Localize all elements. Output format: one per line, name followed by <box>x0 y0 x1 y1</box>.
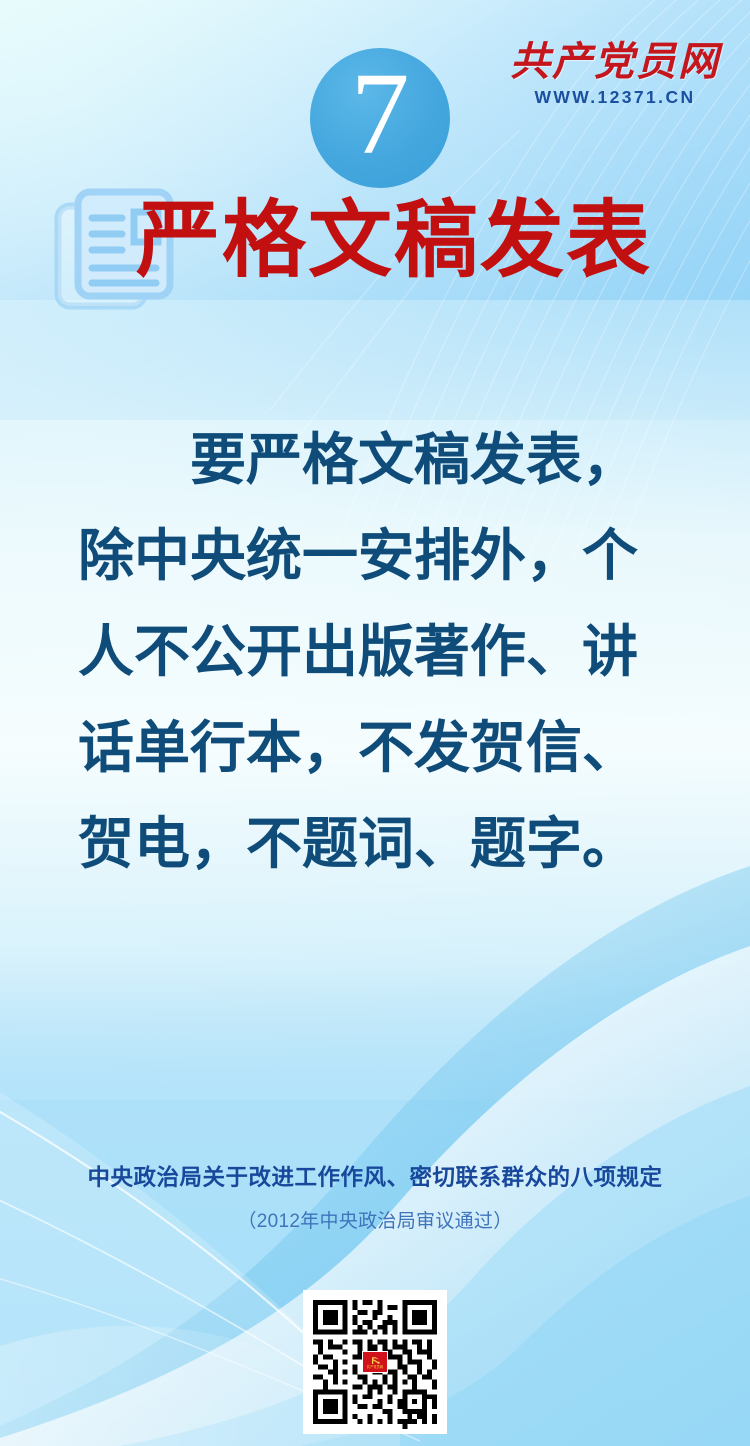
brand-url: WWW.12371.CN <box>504 89 726 107</box>
party-emblem-logo: 共产党员网 <box>362 1351 388 1373</box>
site-brand: 共产党员网 WWW.12371.CN <box>504 42 726 107</box>
brand-wordmark: 共产党员网 <box>504 42 726 82</box>
hammer-sickle-icon <box>369 1355 382 1366</box>
qr-code[interactable]: 共产党员网 <box>303 1290 447 1434</box>
body-paragraph: 要严格文稿发表，除中央统一安排外，个人不公开出版著作、讲话单行本，不发贺信、贺电… <box>78 412 678 892</box>
page-title: 严格文稿发表 <box>136 198 652 282</box>
poster-canvas: 共产党员网 WWW.12371.CN 7 <box>0 0 750 1446</box>
footer-regulation-subtitle: （2012年中央政治局审议通过） <box>0 1206 750 1233</box>
badge-number: 7 <box>351 55 410 173</box>
footer-regulation-title: 中央政治局关于改进工作作风、密切联系群众的八项规定 <box>0 1160 750 1192</box>
party-emblem-label: 共产党员网 <box>367 1366 383 1369</box>
number-badge: 7 <box>310 48 450 188</box>
